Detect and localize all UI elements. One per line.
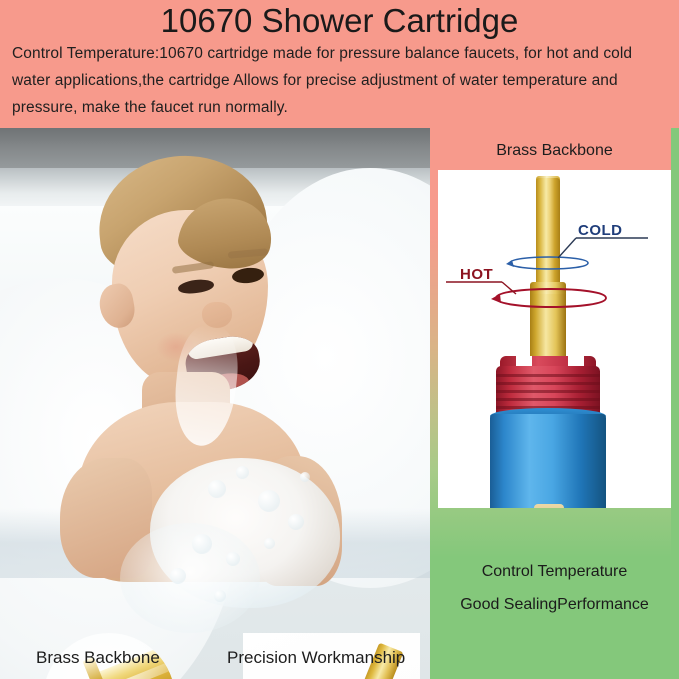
product-description: Control Temperature:10670 cartridge made…: [12, 40, 672, 121]
feature-line-control-temperature: Control Temperature: [430, 563, 679, 581]
hot-arrow-head: [491, 294, 501, 303]
soap-bubble: [258, 490, 280, 512]
child-nose: [202, 302, 232, 328]
soap-bubble: [226, 552, 240, 566]
soap-bubble: [288, 514, 304, 530]
header-banner: 10670 Shower Cartridge Control Temperatu…: [0, 0, 679, 128]
soap-bubble: [300, 472, 310, 482]
cold-rotation-arc: [510, 257, 588, 269]
soap-bubble: [208, 480, 226, 498]
panel-top-label: Brass Backbone: [430, 142, 679, 160]
caption-precision-workmanship: Precision Workmanship: [227, 648, 405, 668]
page-title: 10670 Shower Cartridge: [0, 2, 679, 40]
child-bathtub-photo: [0, 128, 430, 679]
soap-bubble: [214, 590, 226, 602]
cold-label: COLD: [578, 222, 623, 239]
bubble-foam-lower: [120, 523, 260, 633]
soap-bubble: [192, 534, 212, 554]
feature-line-sealing-performance: Good SealingPerformance: [430, 596, 679, 614]
soap-bubble: [264, 538, 275, 549]
right-green-edge-strip: [671, 128, 679, 679]
soap-bubble: [236, 466, 249, 479]
hot-label: HOT: [460, 266, 493, 283]
cartridge-diagram: COLD HOT: [438, 170, 671, 508]
cold-leader-line: [558, 238, 576, 258]
caption-brass-backbone: Brass Backbone: [36, 648, 160, 668]
feature-panel-right: Brass Backbone: [430, 128, 679, 679]
soap-bubble: [170, 568, 186, 584]
annotation-overlay: [438, 170, 671, 508]
